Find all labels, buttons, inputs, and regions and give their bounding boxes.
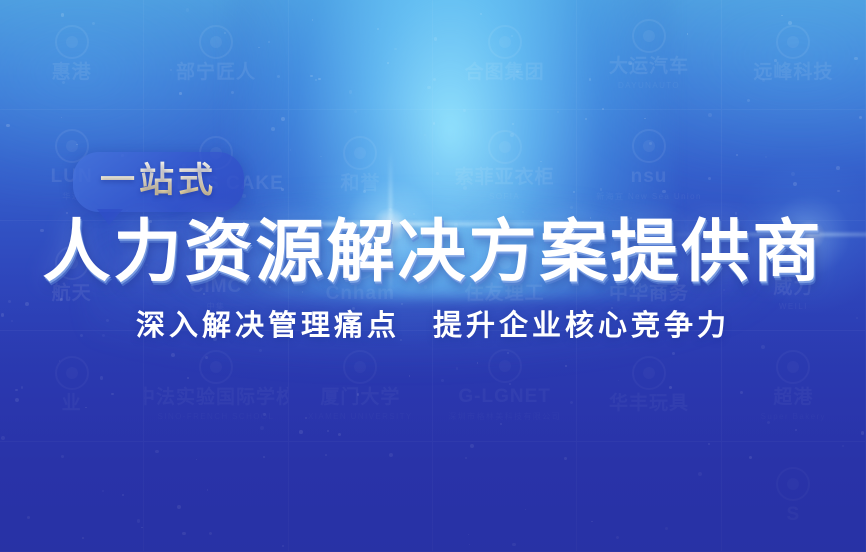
tagline-badge-bubble: 一站式 xyxy=(73,152,244,212)
tagline-badge-label: 一站式 xyxy=(100,161,217,201)
page-title: 人力资源解决方案提供商 xyxy=(0,218,866,286)
banner-content: 一站式 人力资源解决方案提供商 深入解决管理痛点 提升企业核心竞争力 xyxy=(0,0,866,552)
page-subtitle: 深入解决管理痛点 提升企业核心竞争力 xyxy=(0,312,866,341)
tagline-badge: 一站式 xyxy=(73,152,244,212)
hero-banner: 惠港部宁匠人合图集团大运汽车DAYUNAUTO远峰科技LUN华通LOHAS CA… xyxy=(0,0,866,552)
